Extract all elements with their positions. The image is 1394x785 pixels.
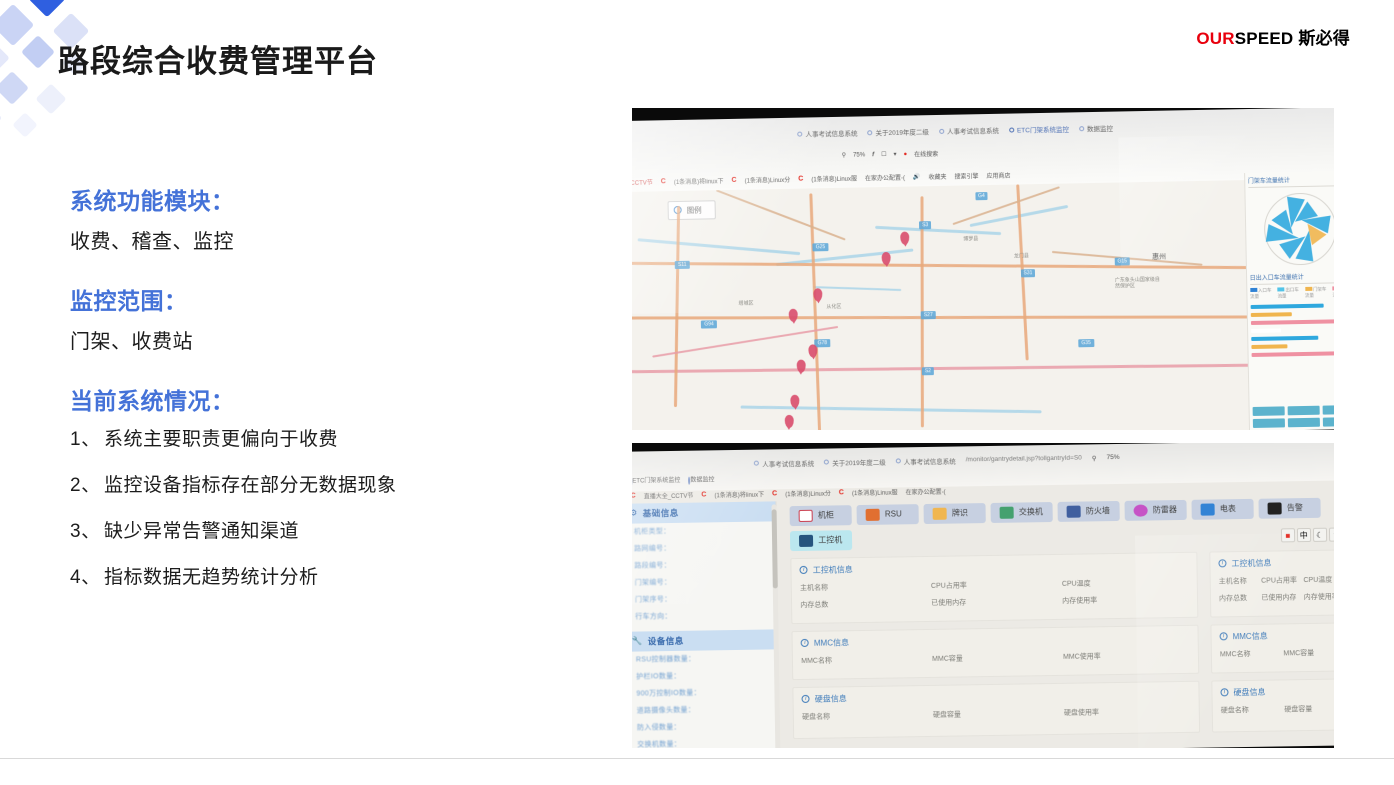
brand-chinese: 斯必得	[1298, 29, 1350, 48]
section-text-modules: 收费、稽查、监控	[70, 225, 590, 254]
device-tab-meter[interactable]: 电表	[1192, 499, 1254, 520]
globe-icon	[896, 459, 901, 464]
bookmark-item[interactable]: 搜索引擎	[954, 171, 978, 180]
panel-title: i 工控机信息	[1218, 556, 1334, 569]
globe-icon	[1079, 126, 1084, 131]
chevron-down-icon[interactable]: ▾	[893, 151, 896, 158]
device-detail-main: 机柜 RSU 牌识 交换机	[788, 492, 1334, 748]
field-label: CPU占用率	[931, 579, 1058, 591]
panel-title: i MMC信息	[1219, 629, 1334, 642]
browser-tab-active[interactable]: ETC门架系统监控	[1009, 124, 1069, 135]
bookmark-item[interactable]: (1条消息)将linux下	[674, 176, 724, 186]
device-tab-alarm[interactable]: 告警	[1259, 498, 1321, 519]
firewall-icon	[1067, 505, 1081, 517]
field-label: MMC容量	[1283, 647, 1334, 658]
globe-icon	[754, 461, 759, 466]
rsu-icon	[866, 509, 880, 521]
map-shield: G35	[1078, 339, 1094, 347]
list-item-text: 指标数据无趋势统计分析	[104, 562, 319, 589]
sidebar-section-basic-info: ⚙ 基础信息	[632, 501, 776, 523]
info-icon: i	[1220, 633, 1228, 641]
browser-url-text: /monitor/gantrydetail.jsp?tollgantryId=S…	[966, 455, 1082, 464]
field-label: 已使用内存	[1261, 592, 1300, 603]
shield-icon[interactable]: ●	[903, 152, 907, 158]
list-item: 1、 系统主要职责更偏向于收费	[70, 424, 590, 451]
panel-disk-info: i 硬盘信息 硬盘名称 硬盘容量 硬盘使用率	[793, 681, 1200, 739]
device-tab-switch[interactable]: 交换机	[991, 502, 1053, 523]
content-column: 系统功能模块： 收费、稽查、监控 监控范围： 门架、收费站 当前系统情况： 1、…	[70, 182, 590, 608]
info-icon: i	[1220, 689, 1228, 697]
csdn-icon: C	[839, 489, 844, 496]
bookmark-item[interactable]: (1条消息)Linux服	[811, 174, 857, 184]
map-shield: G25	[813, 244, 829, 252]
map-pin-gantry[interactable]	[900, 232, 909, 245]
section-heading-modules: 系统功能模块：	[70, 182, 590, 216]
panel-mmc-info: i MMC信息 MMC名称 MMC容量 MMC使用率	[792, 625, 1199, 680]
map-shield: G94	[701, 321, 717, 329]
surge-icon	[1134, 504, 1148, 516]
field-label: 内存总数	[800, 598, 927, 610]
map-place-label: 博罗县	[963, 236, 978, 243]
list-item-text: 监控设备指标存在部分无数据现象	[104, 470, 397, 497]
list-item-number: 3、	[70, 516, 104, 543]
map-pin-gantry[interactable]	[796, 360, 805, 373]
bookmark-item[interactable]: (1条消息)将linux下	[714, 489, 764, 499]
sidebar-field: 交换机数量：	[632, 734, 780, 748]
list-item-number: 1、	[70, 424, 104, 451]
map-canvas[interactable]: 图例	[632, 180, 1256, 430]
switch-icon	[1000, 507, 1014, 519]
browser-tab[interactable]: 人事考试信息系统	[896, 455, 956, 466]
camera-icon	[933, 508, 947, 520]
list-item-number: 2、	[70, 470, 104, 497]
gear-icon: ⚙	[632, 508, 638, 519]
field-label: MMC使用率	[1063, 650, 1190, 662]
globe-icon	[797, 132, 802, 137]
brand-speed: SPEED	[1235, 29, 1294, 48]
panel-title: i 硬盘信息	[1220, 685, 1334, 698]
browser-tab[interactable]: 数据监控	[688, 475, 714, 484]
map-pin-gantry[interactable]	[789, 310, 798, 323]
bookmark-item[interactable]: 在家办公配置-(	[865, 173, 905, 183]
map-pin-gantry[interactable]	[814, 289, 823, 302]
zoom-icon[interactable]: ⚲	[842, 152, 847, 159]
chart-title-gantry-flow: 门架车流量统计	[1248, 175, 1334, 189]
section-text-scope: 门架、收费站	[70, 325, 590, 354]
field-label: MMC名称	[801, 654, 928, 666]
map-place-label: 龙门县	[1014, 252, 1029, 259]
device-tab-rsu[interactable]: RSU	[857, 504, 919, 525]
zoom-level: 75%	[853, 152, 865, 158]
section-heading-scope: 监控范围：	[70, 282, 590, 316]
map-shield: S2	[922, 367, 934, 375]
map-place-label: 惠州	[1152, 252, 1166, 262]
monitor-icon	[799, 535, 813, 547]
globe-icon	[824, 460, 829, 465]
field-label: 硬盘容量	[933, 708, 1060, 720]
panel-mmc-info-secondary: i MMC信息 MMC名称 MMC容量	[1210, 622, 1334, 673]
screenshot-photo-map-dashboard: 人事考试信息系统 关于2019年度二级 人事考试信息系统 ETC门架系统监控 数…	[632, 108, 1334, 430]
panel-title: i 硬盘信息	[802, 688, 1191, 705]
field-label: CPU占用率	[1261, 575, 1300, 586]
issues-list: 1、 系统主要职责更偏向于收费 2、 监控设备指标存在部分无数据现象 3、 缺少…	[70, 424, 590, 589]
analytics-rail: 门架车流量统计 日出入口车流量统计 入口车流量	[1244, 172, 1334, 430]
map-pin-gantry[interactable]	[785, 415, 794, 428]
csdn-icon: C	[701, 491, 706, 498]
csdn-icon: C	[798, 176, 803, 183]
info-icon: i	[802, 695, 810, 703]
field-label: 已使用内存	[931, 596, 1058, 608]
panel-title: i MMC信息	[801, 632, 1190, 649]
field-label: 内存使用率	[1304, 591, 1334, 602]
list-item: 4、 指标数据无趋势统计分析	[70, 562, 590, 589]
bar-chart-entry-exit	[1250, 304, 1334, 358]
panel-title: i 工控机信息	[800, 559, 1189, 576]
tray-icon-more[interactable]: ▾	[1329, 528, 1334, 542]
quick-action-button[interactable]	[1252, 419, 1284, 429]
panel-industrial-pc-info-secondary: i 工控机信息 主机名称 CPU占用率 CPU温度 内存总数 已使用内存	[1209, 549, 1334, 617]
screenshot-photo-device-detail: 人事考试信息系统 关于2019年度二级 人事考试信息系统 /monitor/ga…	[632, 443, 1334, 748]
field-label: 硬盘使用率	[1064, 706, 1191, 718]
quick-action-button[interactable]	[1252, 407, 1284, 417]
map-shield: G15	[1114, 258, 1130, 266]
list-item-number: 4、	[70, 562, 104, 589]
quick-action-button[interactable]	[1323, 417, 1334, 427]
field-label: 主机名称	[1219, 576, 1258, 587]
bookmark-item[interactable]: CCTV节	[632, 178, 653, 187]
globe-icon	[867, 130, 872, 135]
field-label: 硬盘容量	[1284, 703, 1334, 714]
csdn-icon: C	[772, 490, 777, 497]
zoom-icon[interactable]: ⚲	[1092, 454, 1097, 462]
tray-icon-red[interactable]: ■	[1281, 529, 1295, 543]
quick-action-button-grid	[1252, 405, 1334, 428]
info-sidebar: ⚙ 基础信息 机柜类型： 路网编号： 路段编号： 门架编号： 门架序号： 行车方…	[632, 501, 781, 748]
tray-icon-moon[interactable]: ☾	[1313, 528, 1327, 542]
browser-tab[interactable]: 关于2019年度二级	[824, 456, 886, 467]
system-tray: ■ 中 ☾ ▾	[1281, 528, 1334, 543]
bookmark-item[interactable]: 应用商店	[986, 171, 1010, 180]
zoom-level: 75%	[1107, 454, 1120, 461]
map-legend-button[interactable]: 图例	[667, 201, 715, 221]
brand-our: OUR	[1196, 29, 1234, 48]
browser-tab[interactable]: 数据监控	[1079, 123, 1113, 134]
device-tab-cabinet[interactable]: 机柜	[790, 505, 852, 526]
bookmark-item[interactable]: (1条消息)Linux分	[744, 175, 790, 185]
panel-disk-info-secondary: i 硬盘信息 硬盘名称 硬盘容量	[1211, 678, 1334, 732]
wrench-icon: 🔧	[632, 636, 643, 647]
globe-icon	[939, 129, 944, 134]
list-item: 2、 监控设备指标存在部分无数据现象	[70, 470, 590, 497]
field-label: CPU温度	[1303, 574, 1334, 585]
csdn-icon: C	[731, 177, 736, 184]
map-shield: S31	[1020, 270, 1035, 278]
browser-tab[interactable]: 关于2019年度二级	[867, 127, 929, 138]
panel-industrial-pc-info: i 工控机信息 主机名称 CPU占用率 CPU温度 内存总数 已使用内存	[791, 552, 1199, 624]
field-label: 硬盘名称	[1221, 704, 1281, 715]
list-item-text: 缺少异常告警通知渠道	[104, 516, 299, 543]
sidebar-field: 行车方向：	[632, 606, 778, 625]
map-shield: G4	[975, 193, 988, 201]
field-label: 硬盘名称	[802, 710, 929, 722]
map-place-label: 广东象头山国家级自然保护区	[1115, 277, 1163, 290]
device-tab-bar: 机柜 RSU 牌识 交换机	[788, 492, 1334, 551]
info-icon: i	[1218, 560, 1226, 568]
bookmark-icon[interactable]: ☐	[881, 152, 887, 159]
field-label: 内存总数	[1219, 593, 1258, 604]
quick-action-button[interactable]	[1288, 418, 1320, 428]
font-icon[interactable]: f	[872, 152, 874, 158]
map-place-label: 增城区	[738, 300, 753, 307]
map-place-label: 从化区	[826, 304, 841, 311]
chart-legend: 入口车流量 出口车流量 门架车流量 异常流量	[1250, 287, 1334, 301]
bookmark-item[interactable]: 收藏夹	[928, 172, 946, 181]
etc-icon	[1009, 128, 1014, 133]
device-tab-plate-recognition[interactable]: 牌识	[924, 503, 986, 524]
bookmark-item[interactable]: 在家办公配置-(	[906, 486, 946, 496]
list-item-text: 系统主要职责更偏向于收费	[104, 424, 338, 451]
info-icon: i	[800, 566, 808, 574]
device-tab-industrial-pc[interactable]: 工控机	[790, 530, 852, 551]
field-label: CPU温度	[1062, 577, 1189, 589]
field-label: MMC容量	[932, 652, 1059, 664]
cabinet-icon	[799, 510, 813, 522]
bookmark-item[interactable]: 直播大全_CCTV节	[644, 490, 694, 500]
browser-tab[interactable]: 人事考试信息系统	[797, 128, 857, 139]
field-label: 内存使用率	[1062, 594, 1189, 606]
footer-divider	[0, 758, 1394, 759]
map-shield: S3	[919, 222, 931, 230]
field-label: MMC名称	[1220, 648, 1280, 659]
device-tab-firewall[interactable]: 防火墙	[1058, 501, 1120, 522]
bookmark-item[interactable]: (1条消息)Linux服	[852, 487, 898, 497]
map-shield: G78	[815, 339, 831, 347]
quick-action-button[interactable]	[1287, 406, 1319, 416]
online-search-label[interactable]: 在线搜索	[914, 150, 938, 159]
meter-icon	[1201, 503, 1215, 515]
warning-icon	[1268, 502, 1282, 514]
field-label: 主机名称	[800, 581, 927, 593]
device-tab-surge-protector[interactable]: 防雷器	[1125, 500, 1187, 521]
info-icon: i	[801, 639, 809, 647]
map-shield: S27	[921, 312, 936, 320]
map-shield: S11	[675, 261, 690, 269]
rose-chart-gantry-flow	[1248, 190, 1334, 270]
sidebar-section-device-info: 🔧 设备信息	[632, 629, 778, 651]
quick-action-button[interactable]	[1322, 405, 1334, 415]
csdn-icon: C	[661, 178, 666, 185]
section-heading-issues: 当前系统情况：	[70, 382, 590, 416]
chart-title-entry-exit-flow: 日出入口车流量统计	[1250, 272, 1334, 286]
bookmark-item[interactable]: (1条消息)Linux分	[785, 488, 831, 498]
brand-logo: OURSPEED斯必得	[1196, 24, 1350, 49]
browser-tab[interactable]: 人事考试信息系统	[754, 458, 814, 469]
tray-icon-ime[interactable]: 中	[1297, 528, 1311, 542]
speaker-icon[interactable]: 🔊	[913, 173, 921, 180]
browser-tab[interactable]: ETC门架系统监控	[632, 475, 680, 485]
browser-tab[interactable]: 人事考试信息系统	[939, 125, 999, 136]
slide: OURSPEED斯必得 路段综合收费管理平台 系统功能模块： 收费、稽查、监控 …	[0, 0, 1394, 785]
page-title: 路段综合收费管理平台	[58, 36, 378, 81]
csdn-icon: C	[632, 492, 636, 499]
list-item: 3、 缺少异常告警通知渠道	[70, 516, 590, 543]
